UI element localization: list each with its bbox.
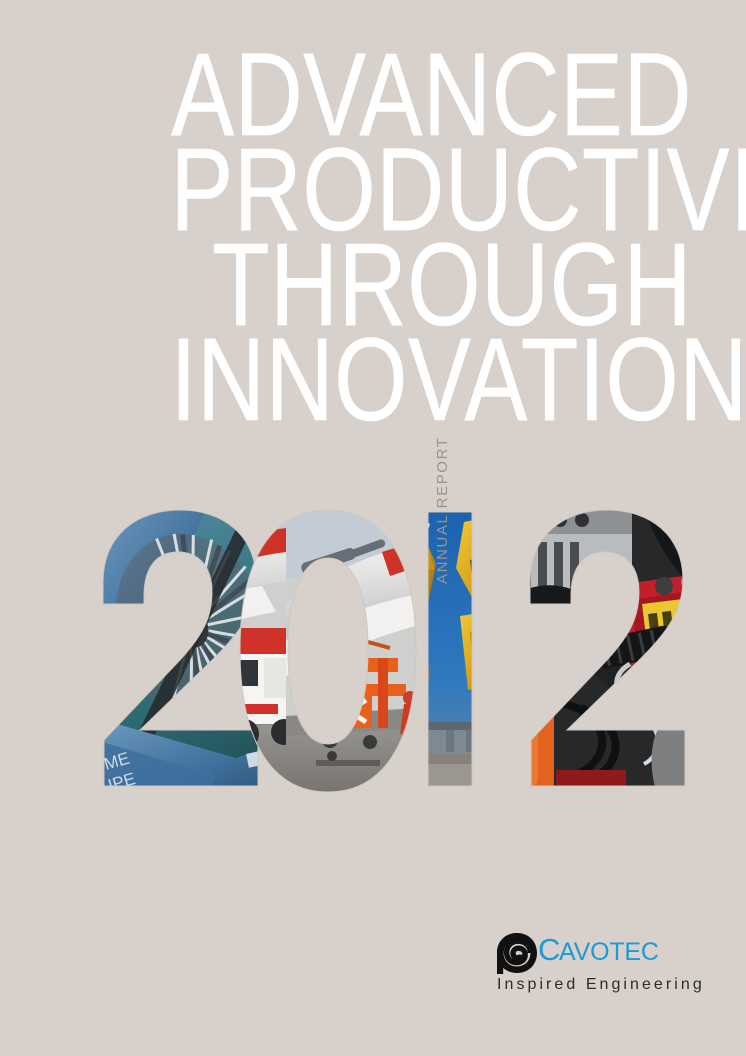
annual-report-label: ANNUAL REPORT [432,434,454,584]
year-digit-2-first [103,510,258,786]
annual-report-text: ANNUAL REPORT [432,434,454,584]
cavotec-logo[interactable]: C AVOTEC Inspired Engineering [494,928,690,1000]
report-cover: ADVANCED PRODUCTIVITY THROUGH INNOVATION [0,0,746,1056]
year-2012-graphic: ME IPE [96,508,696,796]
cavotec-wordmark: C AVOTEC [538,933,690,973]
year-digit-2-second [530,510,685,786]
cavotec-spiral-mark-icon [494,930,540,976]
headline-line-4: INNOVATION [170,333,692,428]
cover-headline: ADVANCED PRODUCTIVITY THROUGH INNOVATION [40,48,692,428]
svg-text:C: C [538,933,560,967]
svg-text:AVOTEC: AVOTEC [559,938,659,966]
year-digit-0 [240,510,416,792]
cavotec-tagline: Inspired Engineering [497,976,690,994]
